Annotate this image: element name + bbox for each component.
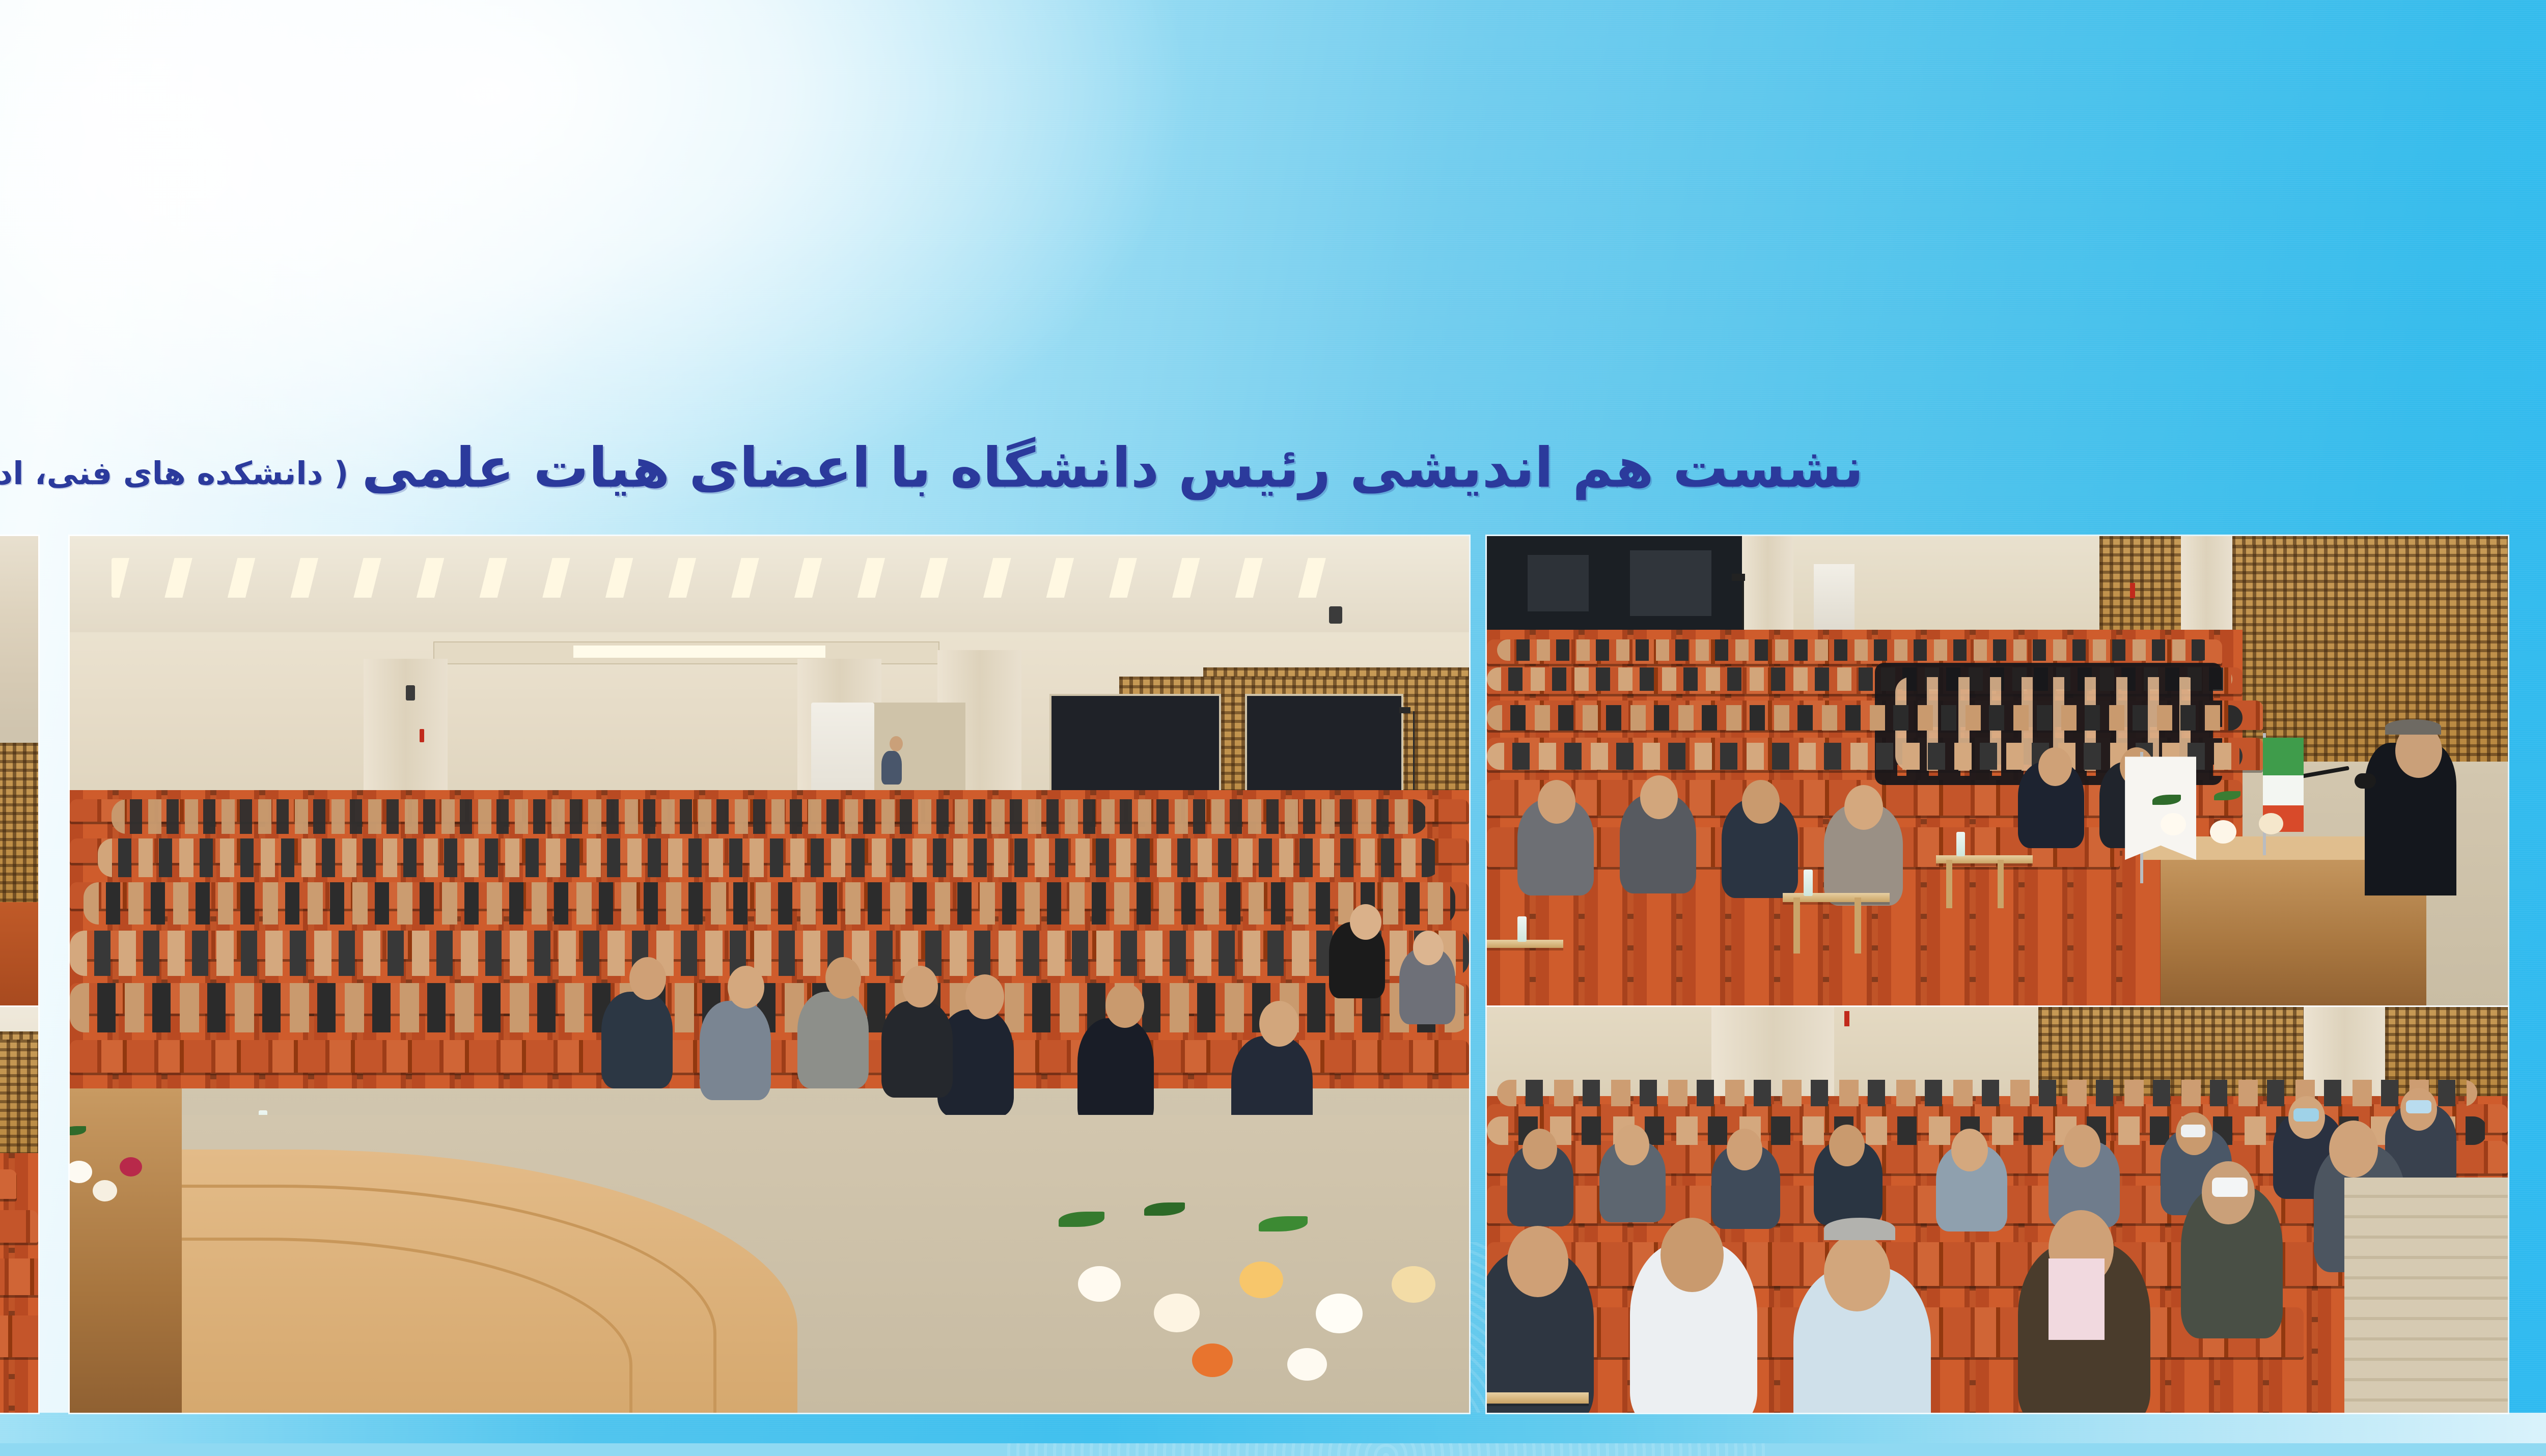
banner-title-row: نشست هم اندیشی رئیس دانشگاه با اعضای هیا… xyxy=(0,428,1864,509)
bottom-color-band xyxy=(0,1413,2546,1443)
page-title: نشست هم اندیشی رئیس دانشگاه با اعضای هیا… xyxy=(362,441,1864,496)
photo-audience-and-speaker xyxy=(1487,536,2508,1005)
photo-audience-left xyxy=(0,1007,38,1413)
photo-speaker-at-podium xyxy=(0,536,38,1005)
photo-auditorium-wide xyxy=(70,536,1469,1413)
light-wedge-decoration xyxy=(0,0,393,387)
page-title-subtitle: ( دانشکده های فنی، ادبیات و علوم انسانی،… xyxy=(0,458,348,489)
photo-audience-closeup xyxy=(1487,1007,2508,1413)
